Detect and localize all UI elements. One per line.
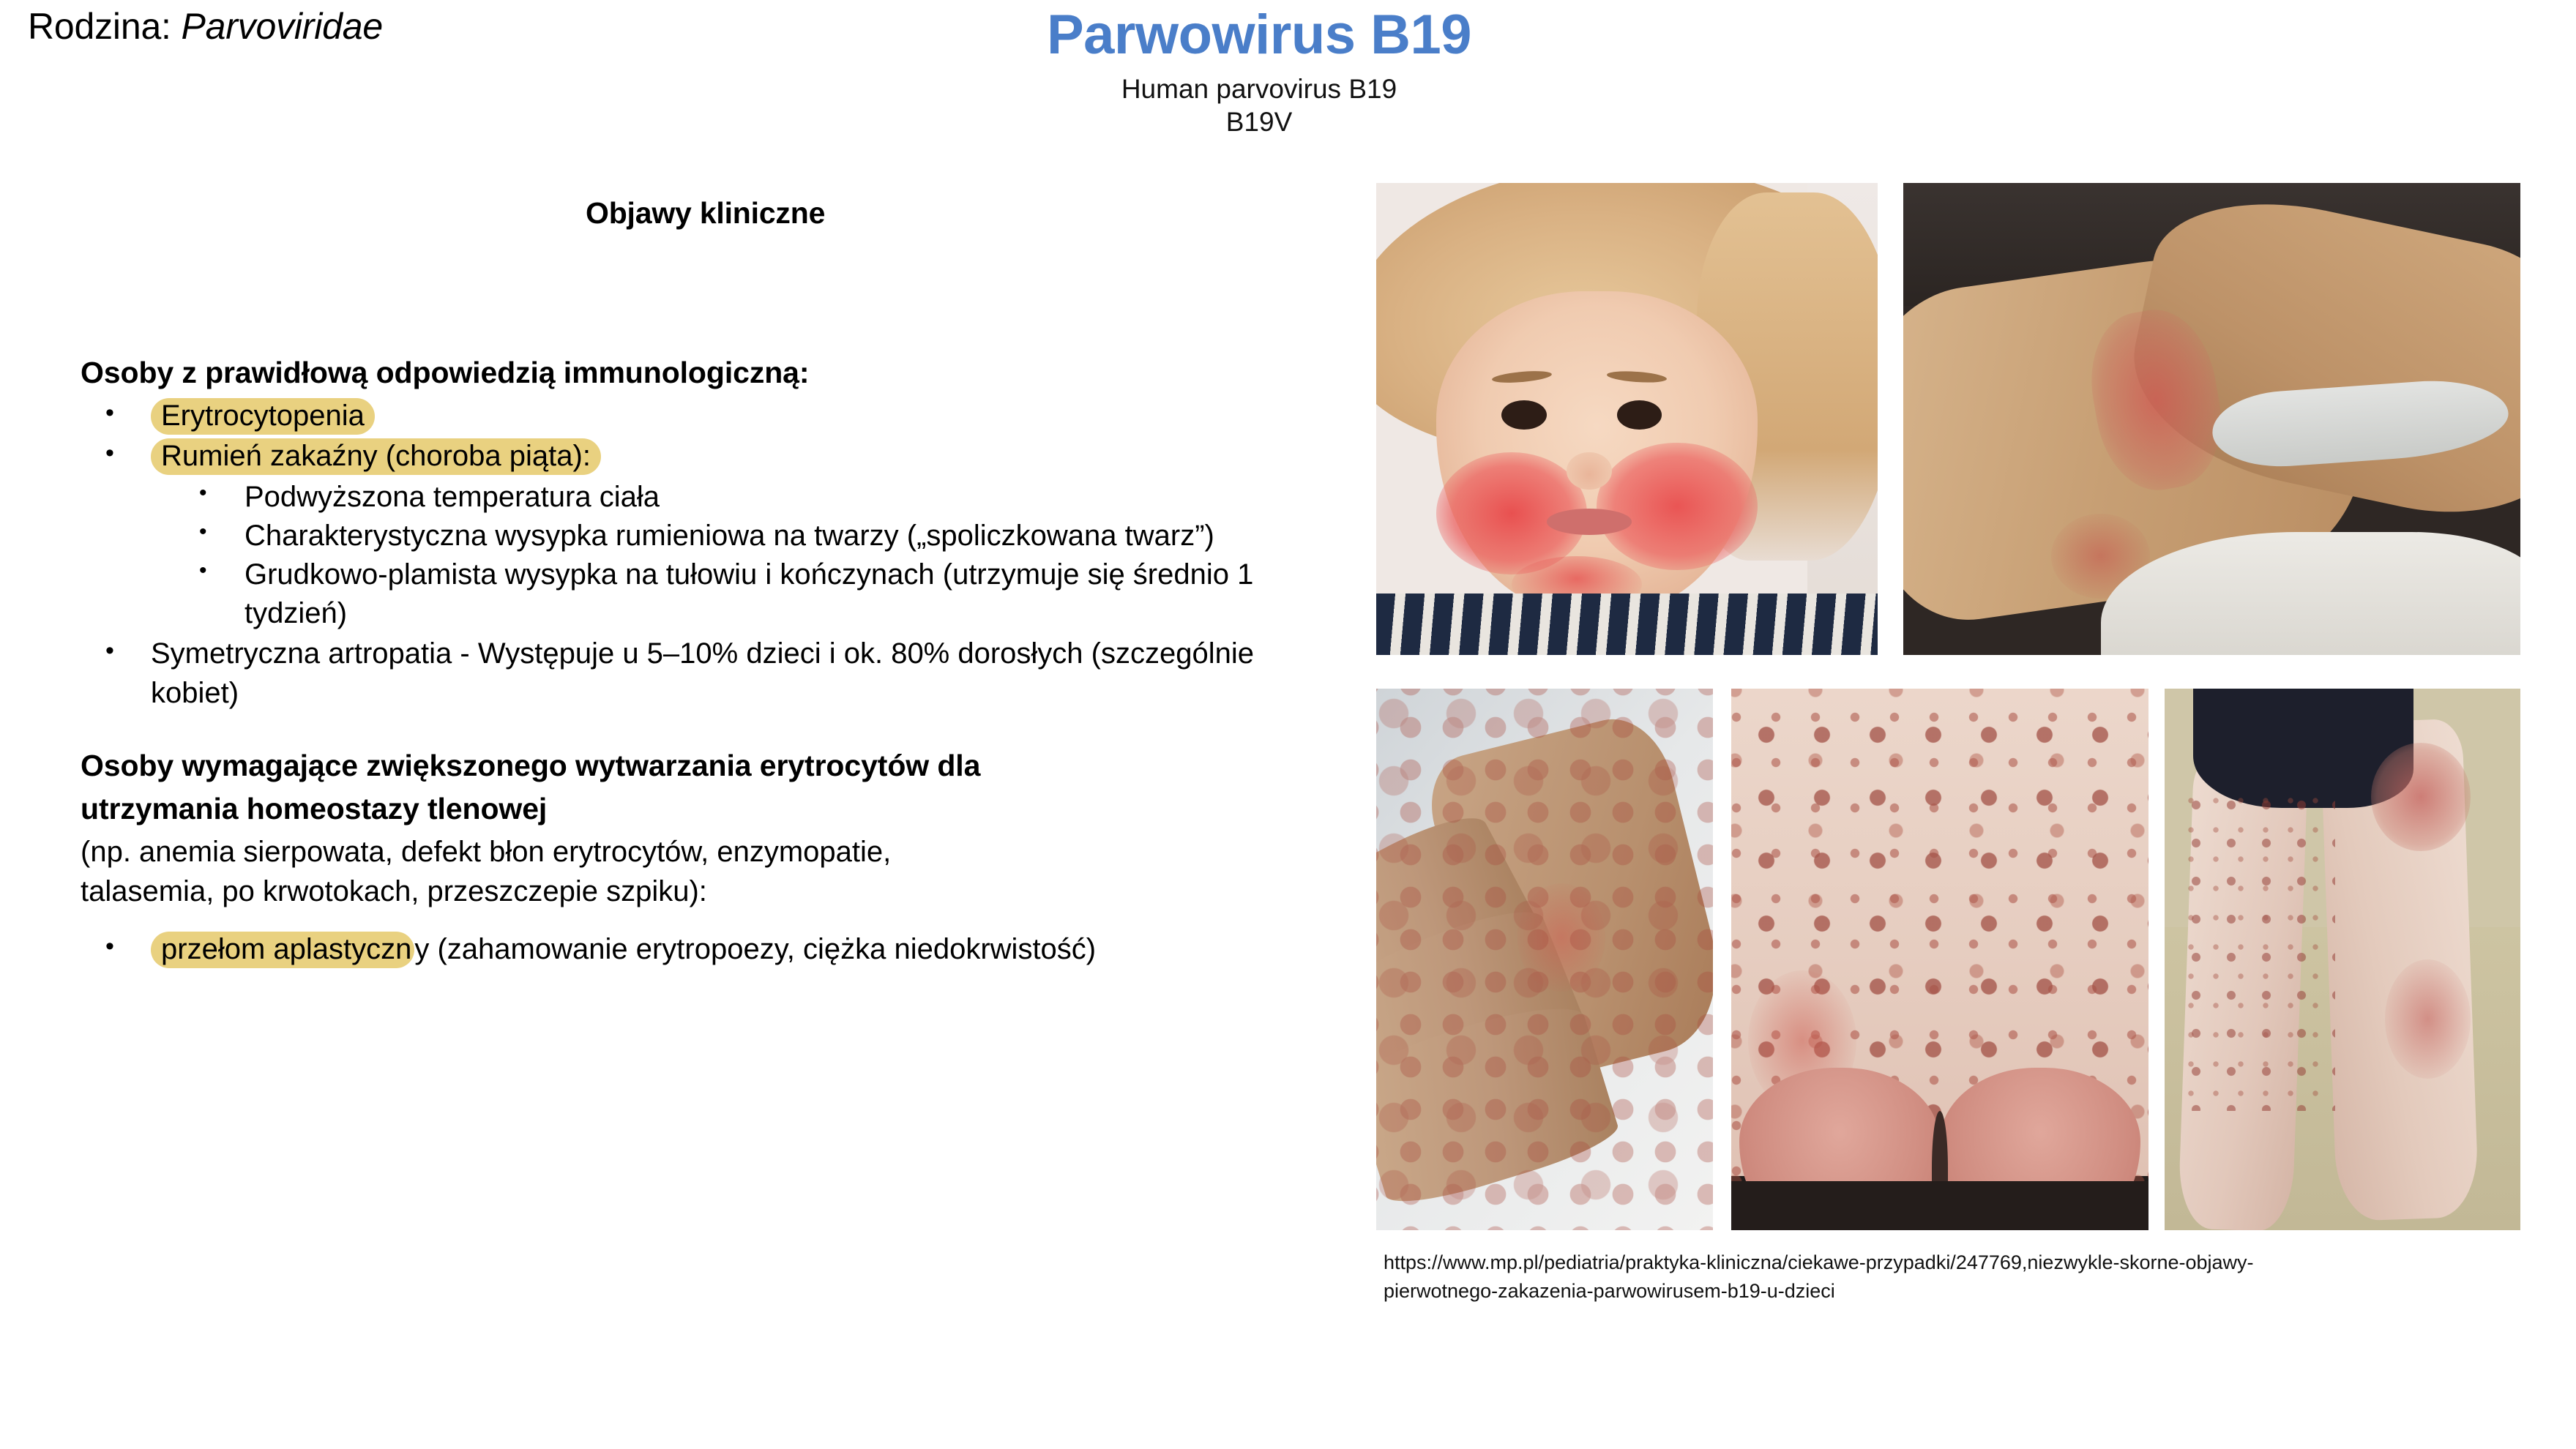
erythema-cheek-right [1597, 443, 1757, 570]
citation-line-1: https://www.mp.pl/pediatria/praktyka-kli… [1384, 1248, 2511, 1277]
title-subtitle-abbrev: B19V [930, 105, 1588, 138]
image-grid-row-1 [1376, 183, 2520, 655]
image-grid-row-2 [1376, 689, 2520, 1230]
citation-line-2: pierwotnego-zakazenia-parwowirusem-b19-u… [1384, 1277, 2511, 1306]
group1-lead: Osoby z prawidłową odpowiedzią immunolog… [81, 353, 1318, 392]
rash-patch-primary [2371, 743, 2471, 851]
family-line: Rodzina: Parvoviridae [28, 6, 383, 48]
mouth-shape [1547, 509, 1632, 534]
source-citation: https://www.mp.pl/pediatria/praktyka-kli… [1384, 1248, 2511, 1306]
spacer [81, 714, 1318, 746]
highlighted-term-rumien: Rumień zakaźny (choroba piąta): [151, 438, 601, 475]
group2-lead-line-1: Osoby wymagające zwiększonego wytwarzani… [81, 746, 1318, 785]
list-item: Grudkowo-plamista wysypka na tułowiu i k… [151, 555, 1318, 633]
group1-bullet-list: Erytrocytopenia Rumień zakaźny (choroba … [81, 397, 1318, 713]
photo-rash-trunk [1731, 689, 2148, 1230]
group2-lead-line-2: utrzymania homeostazy tlenowej [81, 790, 1318, 828]
rash-spots [1376, 689, 1713, 1230]
spacer [81, 911, 1318, 930]
image-grid [1376, 183, 2520, 1230]
content-text-column: Osoby z prawidłową odpowiedzią immunolog… [81, 353, 1318, 970]
photo-slapped-cheek-child [1376, 183, 1878, 655]
title-block: Parwowirus B19 Human parvovirus B19 B19V [930, 6, 1588, 138]
list-item: Erytrocytopenia [81, 397, 1318, 435]
highlighted-term-przelom-aplastyczny: przełom aplastyczn [151, 932, 414, 968]
list-item: Podwyższona temperatura ciała [151, 478, 1318, 517]
photo-rash-legs [2165, 689, 2520, 1230]
photo-rash-fingers [1376, 689, 1713, 1230]
section-heading: Objawy kliniczne [586, 196, 825, 231]
group1-sub-bullets-wrap: Podwyższona temperatura ciała Charaktery… [151, 478, 1318, 634]
eye-left [1501, 400, 1547, 430]
family-label: Rodzina: [28, 6, 171, 47]
rash-spots [2179, 786, 2335, 1111]
group2-bullet-list: przełom aplastyczny (zahamowanie erytrop… [81, 930, 1318, 969]
nose-shape [1567, 452, 1612, 490]
striped-shirt [1376, 594, 1878, 655]
group1-sub-bullet-list: Podwyższona temperatura ciała Charaktery… [151, 478, 1318, 634]
page-title: Parwowirus B19 [930, 6, 1588, 65]
slide-canvas: Rodzina: Parvoviridae Parwowirus B19 Hum… [0, 0, 2576, 1449]
photo-reticular-rash-limbs [1903, 183, 2520, 655]
family-name: Parvoviridae [181, 6, 383, 47]
list-item: Symetryczna artropatia - Występuje u 5–1… [81, 634, 1318, 712]
group2-bullet-rest: y (zahamowanie erytropoezy, ciężka niedo… [414, 933, 1096, 965]
eye-right [1617, 400, 1662, 430]
list-item: przełom aplastyczny (zahamowanie erytrop… [81, 930, 1318, 969]
title-subtitle-latin: Human parvovirus B19 [930, 72, 1588, 105]
highlighted-term-erytrocytopenia: Erytrocytopenia [151, 398, 375, 435]
rash-patch-secondary [2385, 959, 2471, 1079]
group2-paren-line-2: talasemia, po krwotokach, przeszczepie s… [81, 872, 1318, 911]
list-item: Rumień zakaźny (choroba piąta): Podwyższ… [81, 437, 1318, 633]
photo-background [1731, 1181, 2148, 1230]
list-item: Charakterystyczna wysypka rumieniowa na … [151, 517, 1318, 555]
group2-paren-line-1: (np. anemia sierpowata, defekt błon eryt… [81, 833, 1318, 872]
